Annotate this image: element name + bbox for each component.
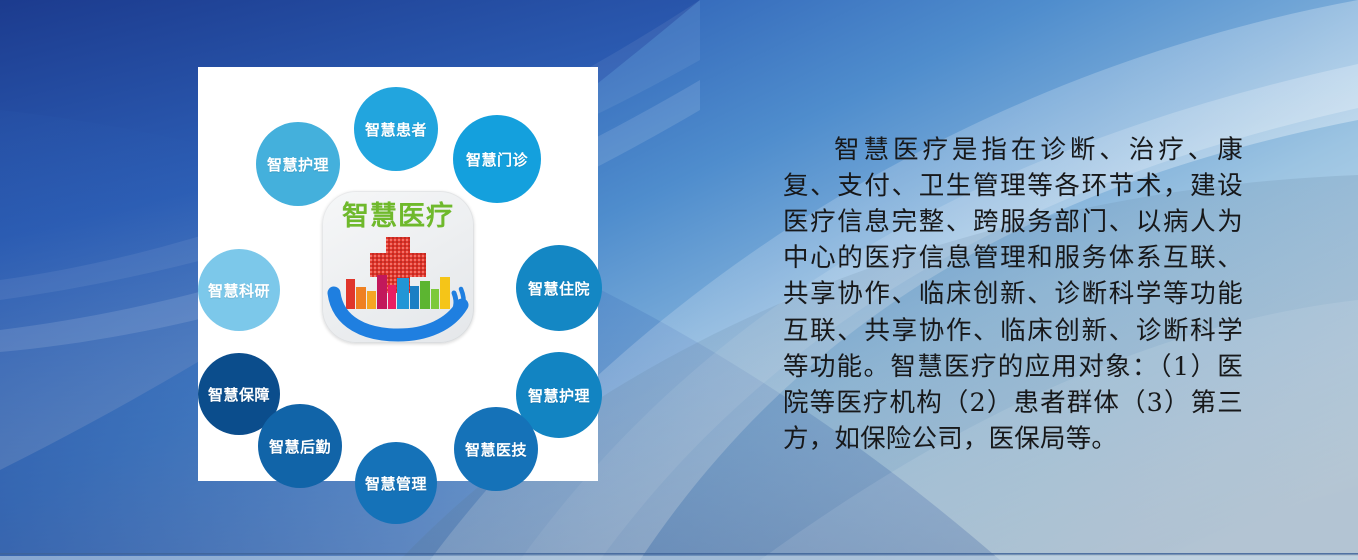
bubble-2[interactable]: 智慧护理 [256, 122, 340, 206]
smart-healthcare-logo-tile: 智慧医疗 [322, 191, 474, 343]
diagram-panel: 智慧医疗 [198, 67, 598, 481]
bubble-3[interactable]: 智慧门诊 [453, 115, 541, 203]
bubble-label: 智慧住院 [528, 278, 590, 299]
bubble-label: 智慧保障 [208, 384, 270, 405]
smart-healthcare-logo-icon [322, 231, 474, 343]
bubble-9[interactable]: 智慧管理 [355, 442, 437, 524]
bubble-10[interactable]: 智慧医技 [454, 407, 538, 491]
bubble-4[interactable]: 智慧科研 [198, 249, 280, 331]
slide-canvas: 智慧医疗 [0, 0, 1358, 560]
bubble-label: 智慧门诊 [466, 149, 528, 170]
bubble-label: 智慧患者 [365, 119, 427, 140]
bubble-label: 智慧医技 [465, 439, 527, 460]
logo-title-text: 智慧医疗 [322, 202, 474, 232]
bubble-1[interactable]: 智慧患者 [354, 87, 438, 171]
bubble-label: 智慧护理 [267, 154, 329, 175]
city-skyline-icon [346, 275, 450, 309]
bubble-5[interactable]: 智慧住院 [516, 245, 602, 331]
bubble-label: 智慧管理 [365, 473, 427, 494]
bubble-8[interactable]: 智慧后勤 [258, 404, 342, 488]
bubble-label: 智慧护理 [528, 385, 590, 406]
bubble-label: 智慧科研 [208, 280, 270, 301]
article-body-text: 智慧医疗是指在诊断、治疗、康复、支付、卫生管理等各环节术，建设医疗信息完整、跨服… [783, 132, 1243, 458]
bubble-label: 智慧后勤 [269, 436, 331, 457]
